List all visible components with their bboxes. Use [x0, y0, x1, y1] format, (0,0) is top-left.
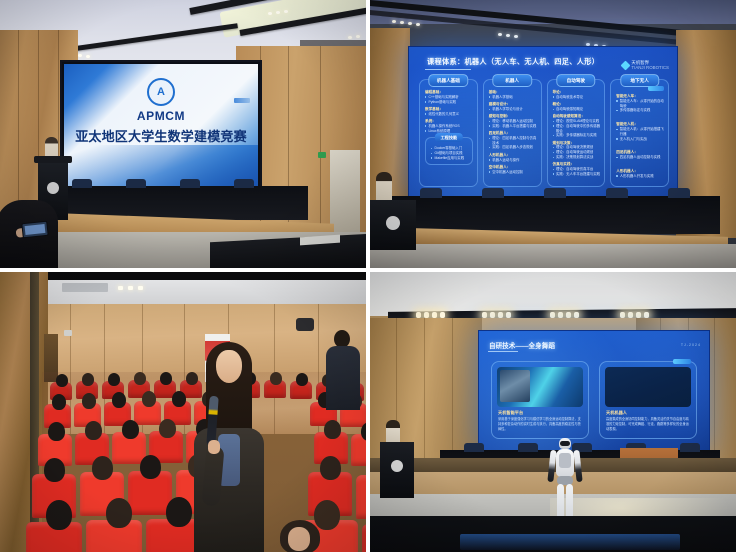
face	[216, 350, 242, 383]
card-media	[497, 367, 583, 407]
list-item: 人形机器人开发与实践	[616, 174, 664, 179]
list-item: 智能无人车：从零开始的自动驾驶	[616, 99, 664, 109]
brand-diamond-icon	[621, 61, 631, 71]
slide-column: 机器人 基础： 机器人学基础 建模与设计： 机器人学导论与设计 感知与控制： 理	[483, 79, 542, 187]
sponsor-logo-icon	[234, 98, 250, 103]
slide-title-en: APMCM	[64, 109, 258, 123]
panel-course-system-slide: 课程体系：机器人（无人车、无人机、四足、人形） 天机智界 TIANJI ROBO…	[370, 0, 736, 268]
sub-box: 工程技能 Docker零基础入门 Git基础与项目实践 Makefile应用与实…	[425, 137, 473, 164]
spotlight	[268, 12, 272, 15]
card-label: 天机机器人	[606, 410, 627, 416]
card-thumbnail	[500, 370, 530, 402]
list-item: 四足机器人运动控制与实践	[616, 155, 664, 160]
spotlight	[276, 11, 280, 14]
title-underline	[425, 69, 471, 70]
list-item: 智能无人机：从零开始搭建飞行器	[616, 127, 664, 137]
photo-collage: A APMCM 亚太地区大学生数学建模竞赛	[0, 0, 736, 552]
slide-title: 自研技术——全身舞蹈	[489, 340, 555, 350]
brand-logo: 天机智界 TIANJI ROBOTICS	[622, 61, 669, 71]
spotlight	[78, 54, 82, 57]
sub-box-header: 工程技能	[435, 133, 463, 142]
slide-code: TJ-2024	[681, 343, 701, 347]
list-item: 空中机器人运动控制	[489, 170, 537, 175]
card-text: 高度集成的全身协同控制能力，具备灵活的关节自由度与精准的力矩控制，可完成舞蹈、行…	[606, 417, 691, 431]
ceiling-vent	[62, 283, 108, 292]
column-header: 机器人基础	[429, 74, 468, 87]
list-item: 实践：多传感器标定与实践	[553, 133, 601, 138]
torso	[326, 346, 360, 410]
list-item: 自动驾驶感知概论	[553, 107, 601, 112]
spotlight	[348, 36, 352, 39]
slide-column: 机器人基础 编程基础： C++基础与实践解析 Python基础与实践 数学基础：…	[419, 79, 478, 187]
slide-columns: 机器人基础 编程基础： C++基础与实践解析 Python基础与实践 数学基础：…	[419, 79, 669, 187]
list-item: 实践：无人车平台搭建与实践	[553, 172, 601, 177]
list-item: 无人机入门与实战	[616, 137, 664, 142]
projection-screen: A APMCM 亚太地区大学生数学建模竞赛	[60, 60, 262, 194]
slide-title-zh: 亚太地区大学生数学建模竞赛	[64, 126, 258, 145]
slide-card: 天机智能平台 采用基于深度强化学习与模仿学习的全身运动控制算法，支持多种复杂动作…	[491, 361, 589, 439]
brand-subtitle: TIANJI ROBOTICS	[631, 66, 669, 71]
list-item: 实践：决策规划算法实战	[553, 155, 601, 160]
title-underline	[488, 351, 518, 352]
card-label: 天机智能平台	[498, 410, 523, 416]
slide-column: 地下无人 智能无人车： 智能无人车：从零开始的自动驾驶 多传感器标定与实践 智能…	[610, 79, 669, 187]
robot-visor-icon	[560, 441, 570, 446]
podium	[370, 200, 416, 250]
apmcm-logo-letter: A	[157, 87, 165, 98]
list-item: 实践：四足机器人步态规划	[489, 145, 537, 150]
list-item: 机器人学基础	[489, 95, 537, 100]
spotlight	[356, 35, 360, 38]
presenter	[376, 172, 392, 202]
wall-speaker-icon	[296, 318, 314, 331]
robot-chest-panel	[559, 453, 571, 468]
robot-arm-right	[573, 450, 582, 482]
smartphone-icon	[21, 221, 48, 239]
list-item: 机器人学导论与设计	[489, 107, 537, 112]
slide-apmcm: A APMCM 亚太地区大学生数学建模竞赛	[64, 64, 258, 190]
list-item: Makefile应用与实践	[431, 156, 468, 161]
apmcm-logo-icon: A	[147, 78, 175, 106]
standing-student-aisle	[322, 330, 362, 410]
list-item: 机器人运动与操作	[489, 158, 537, 163]
panel-audience-qa	[0, 272, 366, 552]
list-item: 线性代数的几何意义	[425, 112, 473, 117]
card-text: 采用基于深度强化学习与模仿学习的全身运动控制算法，支持多种复杂动作的实时生成与执…	[498, 417, 583, 431]
wall-sensor-icon	[64, 330, 72, 336]
exit-sign-icon	[318, 152, 326, 158]
floor	[370, 244, 736, 268]
column-header: 自动驾驶	[556, 74, 595, 87]
list-item: Python基础与实践	[425, 100, 473, 105]
list-item: 自动驾驶技术导论	[553, 95, 601, 100]
slide-column: 自动驾驶 导论： 自动驾驶技术导论 概论： 自动驾驶感知概论 自动驾驶感知算法：	[547, 79, 606, 187]
door	[330, 150, 360, 232]
slide-card: 天机机器人 高度集成的全身协同控制能力，具备灵活的关节自由度与精准的力矩控制，可…	[599, 361, 697, 439]
foreground-screen-reflection	[460, 534, 680, 550]
podium	[380, 442, 414, 498]
column-header: 机器人	[492, 74, 531, 87]
card-media	[605, 367, 691, 407]
panel-opening-ceremony: A APMCM 亚太地区大学生数学建模竞赛	[0, 0, 366, 268]
list-item: 理论：自动驾驶中的多传感器融合	[553, 124, 601, 134]
led-screen: 自研技术——全身舞蹈 TJ-2024 天机智能平台 采用基于深度强化学习与模仿学…	[478, 330, 710, 452]
hand	[208, 440, 220, 454]
spotlight	[284, 10, 288, 13]
panel-humanoid-robot-demo: 自研技术——全身舞蹈 TJ-2024 天机智能平台 采用基于深度强化学习与模仿学…	[370, 272, 736, 552]
spotlight	[86, 55, 90, 58]
led-screen: 课程体系：机器人（无人车、无人机、四足、人形） 天机智界 TIANJI ROBO…	[408, 46, 678, 198]
woman-with-microphone	[192, 342, 266, 552]
list-item: 多传感器标定与实践	[616, 108, 664, 113]
list-item: 实践：机器人平台搭建与实践	[489, 124, 537, 129]
card-badge	[673, 359, 691, 364]
